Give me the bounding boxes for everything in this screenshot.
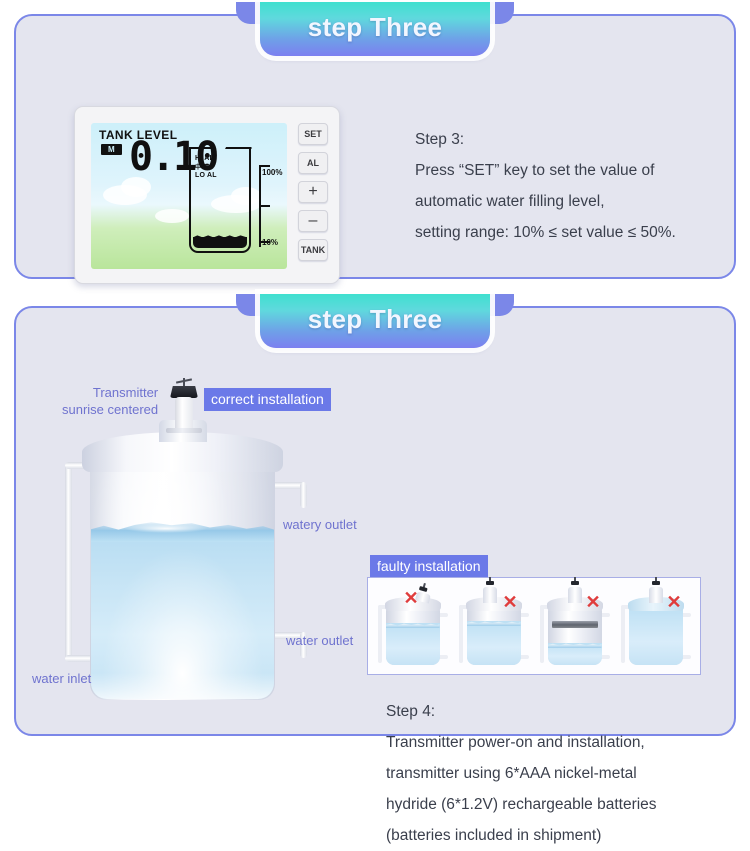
ribbon-ear-left xyxy=(236,2,262,24)
step4-line: (batteries included in shipment) xyxy=(386,820,657,851)
lcd-scale-bar: 100% 10% xyxy=(259,165,261,247)
watery-outlet-pipe-v xyxy=(300,482,307,508)
mini-tank-body xyxy=(629,607,683,665)
transmitter-label-line1: Transmitter xyxy=(62,384,158,401)
lcd-mid-label: 中·清 xyxy=(195,164,210,172)
set-button[interactable]: SET xyxy=(298,123,328,145)
faulty-item-offset-transmitter: ✕ xyxy=(457,583,531,669)
faulty-item-tilted-transmitter: ✕ xyxy=(376,583,450,669)
lcd-lo-alarm-label: LO AL xyxy=(195,172,217,180)
step3-line: Step 3: xyxy=(415,124,676,155)
water-outlet-label: water outlet xyxy=(286,632,353,649)
mini-transmitter xyxy=(571,577,579,591)
cloud-decor xyxy=(121,177,151,197)
step3-line: automatic water filling level, xyxy=(415,186,676,217)
step4-line: Step 4: xyxy=(386,696,657,727)
controller-device: TANK LEVEL M 0.10 HI AL 中·清 LO AL 100% 1… xyxy=(74,106,340,284)
obstruction-baffle xyxy=(552,621,598,628)
lcd-mode-badge: M xyxy=(101,144,122,155)
step3-line: Press “SET” key to set the value of xyxy=(415,155,676,186)
scale-tick-mid xyxy=(259,205,270,207)
lcd-screen: TANK LEVEL M 0.10 HI AL 中·清 LO AL 100% 1… xyxy=(91,123,287,269)
step-banner-bottom: step Three xyxy=(260,294,490,348)
al-button[interactable]: AL xyxy=(298,152,328,174)
banner-label: step Three xyxy=(308,12,443,43)
mini-transmitter xyxy=(486,577,494,591)
mini-water xyxy=(629,607,683,665)
mini-pipe xyxy=(540,605,544,663)
faulty-installation-badge: faulty installation xyxy=(370,555,488,578)
x-mark-icon: ✕ xyxy=(503,593,518,611)
minus-button[interactable]: – xyxy=(298,210,328,232)
ribbon-ear-right xyxy=(488,2,514,24)
correct-installation-diagram: Transmitter sunrise centered correct ins… xyxy=(20,370,365,720)
mini-water xyxy=(467,621,521,665)
mini-water-surface xyxy=(467,621,521,626)
step4-line: transmitter using 6*AAA nickel-metal xyxy=(386,758,657,789)
watery-outlet-label: watery outlet xyxy=(283,516,357,533)
ribbon-ear-right xyxy=(488,294,514,316)
mini-tank-body xyxy=(467,607,521,665)
correct-installation-badge: correct installation xyxy=(204,388,331,411)
step4-text-block: Step 4: Transmitter power-on and install… xyxy=(386,696,657,851)
tank-bottom-highlight xyxy=(91,673,274,699)
banner-label: step Three xyxy=(308,304,443,335)
x-mark-icon: ✕ xyxy=(404,589,419,607)
mini-pipe xyxy=(378,605,382,663)
step-banner-top: step Three xyxy=(260,2,490,56)
transmitter-flange xyxy=(166,428,202,433)
tank-button[interactable]: TANK xyxy=(298,239,328,261)
step4-line: hydride (6*1.2V) rechargeable batteries xyxy=(386,789,657,820)
lcd-hi-alarm-label: HI AL xyxy=(195,155,214,163)
scale-tick-top xyxy=(259,165,270,167)
cloud-decor xyxy=(155,209,189,223)
mini-pipe xyxy=(459,605,463,663)
mini-water-surface xyxy=(548,643,602,648)
x-mark-icon: ✕ xyxy=(586,593,601,611)
faulty-item-overfilled-tank: ✕ xyxy=(619,583,693,669)
transmitter-device xyxy=(170,378,198,430)
faulty-item-obstructed-tank: ✕ xyxy=(538,583,612,669)
mini-water-surface xyxy=(386,623,440,628)
mini-tank-body xyxy=(548,607,602,665)
mini-water xyxy=(386,623,440,665)
water-inlet-label: water inlet xyxy=(32,670,91,687)
ribbon-ear-left xyxy=(236,294,262,316)
transmitter-label-line2: sunrise centered xyxy=(62,401,158,418)
transmitter-housing xyxy=(175,397,193,431)
plus-button[interactable]: + xyxy=(298,181,328,203)
step3-text-block: Step 3: Press “SET” key to set the value… xyxy=(415,124,676,248)
scale-label-top: 100% xyxy=(262,169,282,177)
lcd-water-level xyxy=(193,237,247,248)
step-three-panel-top: step Three TANK LEVEL M 0.10 HI AL 中·清 L… xyxy=(14,14,736,279)
mini-water xyxy=(548,643,602,665)
banner-body: step Three xyxy=(260,294,490,348)
mini-transmitter xyxy=(652,577,660,591)
scale-label-bottom: 10% xyxy=(262,239,278,247)
mini-pipe xyxy=(621,605,625,663)
inlet-pipe-vertical xyxy=(65,462,72,662)
transmitter-label: Transmitter sunrise centered xyxy=(62,384,158,418)
lcd-tank-graphic: HI AL 中·清 LO AL xyxy=(189,149,251,253)
banner-body: step Three xyxy=(260,2,490,56)
mini-tank-body xyxy=(386,607,440,665)
step4-line: Transmitter power-on and installation, xyxy=(386,727,657,758)
x-mark-icon: ✕ xyxy=(667,593,682,611)
step3-line: setting range: 10% ≤ set value ≤ 50%. xyxy=(415,217,676,248)
faulty-installation-gallery: ✕ ✕ ✕ xyxy=(367,577,701,675)
